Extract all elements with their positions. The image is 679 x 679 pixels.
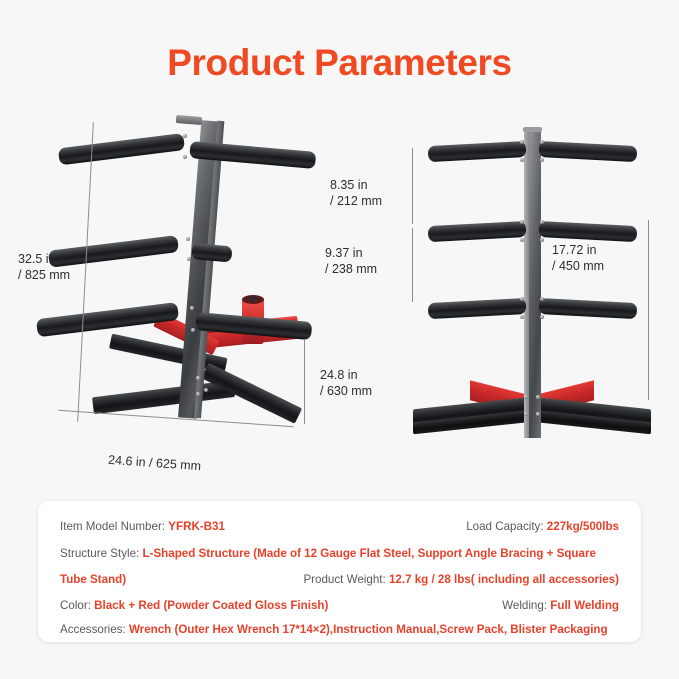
vertical-post-top-cap <box>176 115 203 125</box>
barbell-holder-tube-opening <box>242 295 264 304</box>
spec-color: Color: Black + Red (Powder Coated Gloss … <box>60 599 328 612</box>
middle-spacing-guide-line <box>412 228 413 302</box>
peg-bottom-left <box>36 302 179 337</box>
product-parameters-page: Product Parameters <box>0 0 679 679</box>
top-spacing-guide-line <box>412 148 413 224</box>
right-bolt-base-b <box>536 395 540 399</box>
right-peg-middle-left <box>428 221 527 242</box>
peg-top-left <box>58 133 185 165</box>
peg-width-guide-line <box>648 220 649 400</box>
right-peg-middle-right <box>539 221 638 242</box>
right-bolt-top-b <box>520 158 524 162</box>
right-peg-top-right <box>539 141 638 162</box>
bolt-bot-a <box>190 306 194 310</box>
page-title: Product Parameters <box>0 42 679 84</box>
spec-load-capacity: Load Capacity: 227kg/500lbs <box>466 520 619 533</box>
spec-product-weight: Product Weight: 12.7 kg / 28 lbs( includ… <box>303 573 619 586</box>
spec-row-model-load: Load Capacity: 227kg/500lbs Item Model N… <box>60 520 619 533</box>
right-bolt-top-d <box>540 158 544 162</box>
right-bolt-mid-c <box>540 220 544 224</box>
right-top-spacing-label: 8.35 in / 212 mm <box>330 178 382 209</box>
bolt-top-a <box>183 134 187 138</box>
right-bolt-top-a <box>520 140 524 144</box>
right-bolt-base-d <box>536 412 540 416</box>
bolt-top-b <box>183 155 187 159</box>
spec-row-structure-cont-weight: Product Weight: 12.7 kg / 28 lbs( includ… <box>60 573 619 586</box>
right-peg-top-left <box>428 141 527 162</box>
spec-welding: Welding: Full Welding <box>502 599 619 612</box>
right-bolt-bot-d <box>540 315 544 319</box>
left-height-label: 32.5 in / 825 mm <box>18 252 70 283</box>
right-peg-bottom-right <box>539 298 638 319</box>
right-bolt-mid-a <box>520 220 524 224</box>
left-width-label: 24.6 in / 625 mm <box>108 453 202 475</box>
specifications-card: Load Capacity: 227kg/500lbs Item Model N… <box>38 501 641 642</box>
spec-structure-continuation: Tube Stand) <box>60 573 126 586</box>
height-guide-line <box>77 122 94 422</box>
right-bolt-bot-c <box>540 297 544 301</box>
spec-row-color-welding: Welding: Full Welding Color: Black + Red… <box>60 599 619 612</box>
bolt-base-b <box>204 388 208 392</box>
right-bolt-mid-d <box>540 238 544 242</box>
bolt-mid-a <box>186 237 190 241</box>
peg-middle-right <box>191 243 232 262</box>
right-bolt-bot-a <box>520 297 524 301</box>
depth-guide-line <box>304 340 305 424</box>
right-post-top-cap <box>523 127 542 132</box>
right-bolt-base-a <box>524 395 528 399</box>
right-bolt-bot-b <box>520 315 524 319</box>
right-post-highlight <box>524 130 529 438</box>
spec-row-accessories: Accessories: Wrench (Outer Hex Wrench 17… <box>60 623 619 636</box>
left-depth-label: 24.8 in / 630 mm <box>320 368 372 399</box>
right-middle-spacing-label: 9.37 in / 238 mm <box>325 246 377 277</box>
bolt-mid-b <box>187 257 191 261</box>
width-guide-line <box>58 410 293 427</box>
right-bolt-base-c <box>524 412 528 416</box>
base-arm-front-left <box>92 380 235 414</box>
right-peg-bottom-left <box>428 298 527 319</box>
spec-row-structure: Structure Style: L-Shaped Structure (Mad… <box>60 547 619 560</box>
right-peg-width-label: 17.72 in / 450 mm <box>552 243 604 274</box>
right-bolt-top-c <box>540 140 544 144</box>
spec-item-model-number: Item Model Number: YFRK-B31 <box>60 520 225 533</box>
product-diagram: 32.5 in / 825 mm 24.6 in / 625 mm 24.8 i… <box>0 100 679 495</box>
bolt-base-a <box>196 376 200 380</box>
bolt-base-c <box>196 392 200 396</box>
right-bolt-mid-b <box>520 238 524 242</box>
bolt-bot-b <box>191 328 195 332</box>
